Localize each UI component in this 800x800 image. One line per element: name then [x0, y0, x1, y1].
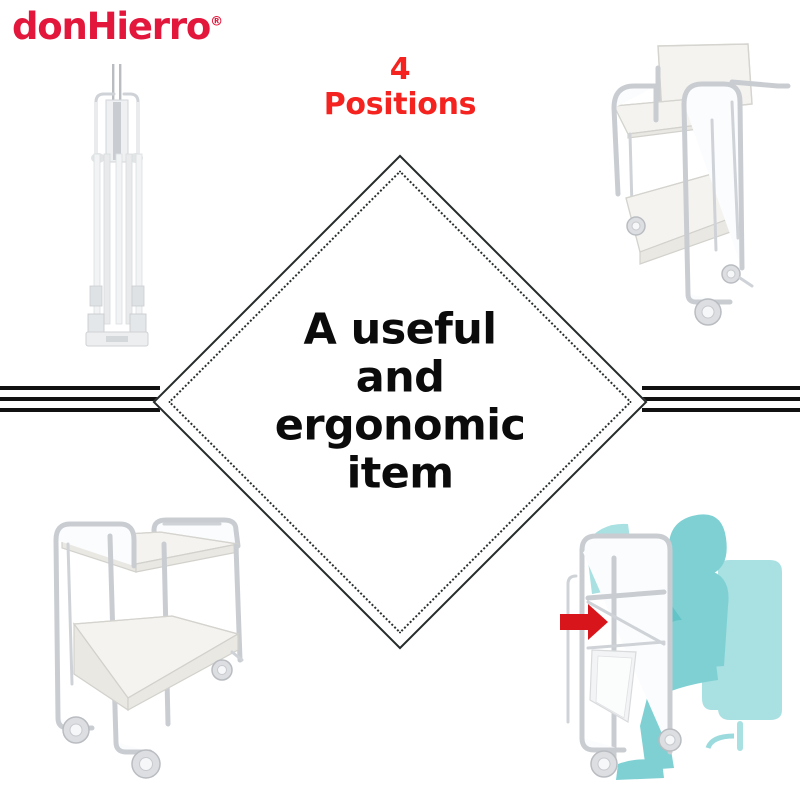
open-cart-illustration [32, 492, 272, 792]
castor-wheel [722, 265, 740, 283]
semi-folded-cart-illustration [592, 38, 800, 340]
rule-line [0, 408, 160, 412]
castor-wheel [591, 751, 617, 777]
castor-wheel [63, 717, 89, 743]
rule-line [0, 397, 160, 401]
rule-group-left [0, 386, 160, 416]
headline-line-2: Positions [250, 87, 550, 122]
castor-wheel [627, 217, 645, 235]
rule-line [642, 386, 800, 390]
castor-wheel [212, 660, 232, 680]
diamond-slogan-line-1: A useful [220, 306, 580, 354]
diamond-slogan: A useful and ergonomic item [220, 306, 580, 499]
rule-line [0, 386, 160, 390]
in-use-scene-illustration [552, 492, 800, 794]
castor-wheel [132, 750, 160, 778]
registered-trademark-icon: ® [210, 15, 223, 30]
photo-cart-position-in-use [552, 492, 800, 794]
diamond-slogan-line-4: item [220, 450, 580, 498]
brand-logo-text: donHierro [12, 5, 210, 48]
photo-cart-position-semi-folded [592, 38, 800, 340]
diamond-slogan-line-2: and [220, 354, 580, 402]
castor-wheel [659, 729, 681, 751]
rule-line [642, 408, 800, 412]
photo-cart-position-folded [62, 58, 172, 358]
headline-line-1: 4 [250, 52, 550, 87]
folded-cart-illustration [62, 58, 172, 358]
photo-cart-position-open [32, 492, 272, 792]
rule-group-right [642, 386, 800, 416]
diamond-slogan-line-3: ergonomic [220, 402, 580, 450]
promo-canvas: donHierro® 4 Positions A useful and ergo… [0, 0, 800, 800]
headline: 4 Positions [250, 52, 550, 123]
castor-wheel [695, 299, 721, 325]
rule-line [642, 397, 800, 401]
brand-logo: donHierro® [12, 8, 223, 45]
